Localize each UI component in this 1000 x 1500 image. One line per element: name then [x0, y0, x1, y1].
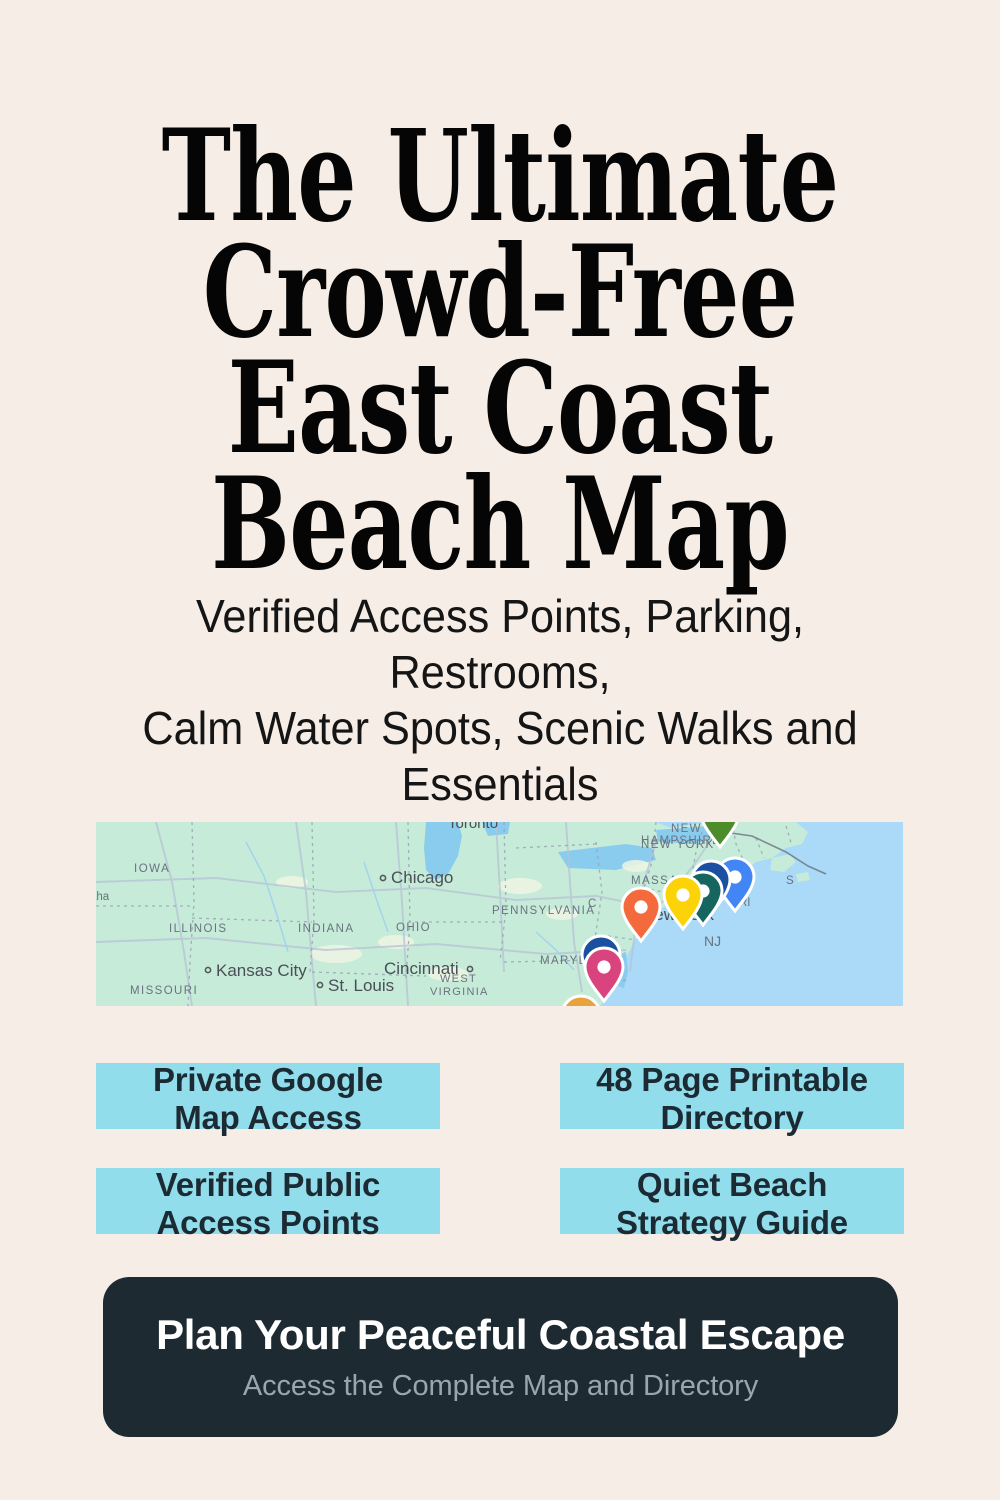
feature-box-private-google-map-access[interactable]: Private Google Map Access: [96, 1063, 440, 1129]
map-state-ct: C: [588, 898, 596, 910]
map-state-pennsylvania: PENNSYLVANIA: [492, 905, 595, 917]
title-line-2: Crowd-Free: [130, 234, 870, 350]
feature-box-quiet-beach-strategy-guide[interactable]: Quiet Beach Strategy Guide: [560, 1168, 904, 1234]
map-state-newhampshire-1: NEW: [671, 823, 702, 835]
feature-label: Quiet Beach Strategy Guide: [616, 1166, 848, 1242]
subtitle-line-4: Essentials: [86, 756, 913, 812]
page-title: The Ultimate Crowd-Free East Coast Beach…: [0, 118, 1000, 582]
map-city-toronto: Toronto: [448, 822, 498, 832]
title-line-4: Beach Map: [130, 466, 870, 582]
poster-root: The Ultimate Crowd-Free East Coast Beach…: [0, 0, 1000, 1500]
feature-box-verified-public-access-points[interactable]: Verified Public Access Points: [96, 1168, 440, 1234]
feature-box-48-page-printable-directory[interactable]: 48 Page Printable Directory: [560, 1063, 904, 1129]
feature-label: Private Google Map Access: [153, 1061, 383, 1137]
feature-list: Private Google Map Access 48 Page Printa…: [96, 1063, 904, 1238]
map-state-ohio: OHIO: [396, 922, 431, 934]
map-state-wv-2: VIRGINIA: [430, 986, 489, 998]
map-state-massachusetts-tail: S: [786, 875, 794, 887]
page-subtitle: Verified Access Points, Parking, Restroo…: [86, 588, 913, 812]
cta-button[interactable]: Plan Your Peaceful Coastal Escape Access…: [103, 1277, 898, 1437]
cta-primary-label: Plan Your Peaceful Coastal Escape: [156, 1311, 845, 1359]
map-state-illinois: ILLINOIS: [169, 923, 228, 935]
map-state-missouri: MISSOURI: [130, 985, 198, 997]
map-city-kansas-city: Kansas City: [216, 961, 307, 980]
map-state-iowa: IOWA: [134, 863, 170, 875]
feature-label: Verified Public Access Points: [156, 1166, 380, 1242]
feature-label: 48 Page Printable Directory: [596, 1061, 868, 1137]
subtitle-line-1: Verified Access Points, Parking,: [86, 588, 913, 644]
cta-secondary-label: Access the Complete Map and Directory: [243, 1369, 758, 1403]
map-preview[interactable]: IOWA aha ILLINOIS INDIANA OHIO MISSOURI …: [96, 822, 903, 1006]
map-city-chicago: Chicago: [391, 868, 453, 887]
map-graphic: IOWA aha ILLINOIS INDIANA OHIO MISSOURI …: [96, 822, 903, 1006]
map-city-cincinnati: Cincinnati: [384, 959, 459, 978]
map-city-st-louis: St. Louis: [328, 976, 394, 995]
title-line-1: The Ultimate: [130, 118, 870, 234]
map-state-indiana: INDIANA: [298, 923, 354, 935]
title-line-3: East Coast: [130, 350, 870, 466]
subtitle-line-2: Restrooms,: [86, 644, 913, 700]
map-city-omaha: aha: [96, 891, 110, 903]
map-state-newhampshire-2: HAMPSHIRE: [641, 835, 721, 847]
map-state-nj: NJ: [704, 933, 721, 949]
subtitle-line-3: Calm Water Spots, Scenic Walks and: [86, 700, 913, 756]
